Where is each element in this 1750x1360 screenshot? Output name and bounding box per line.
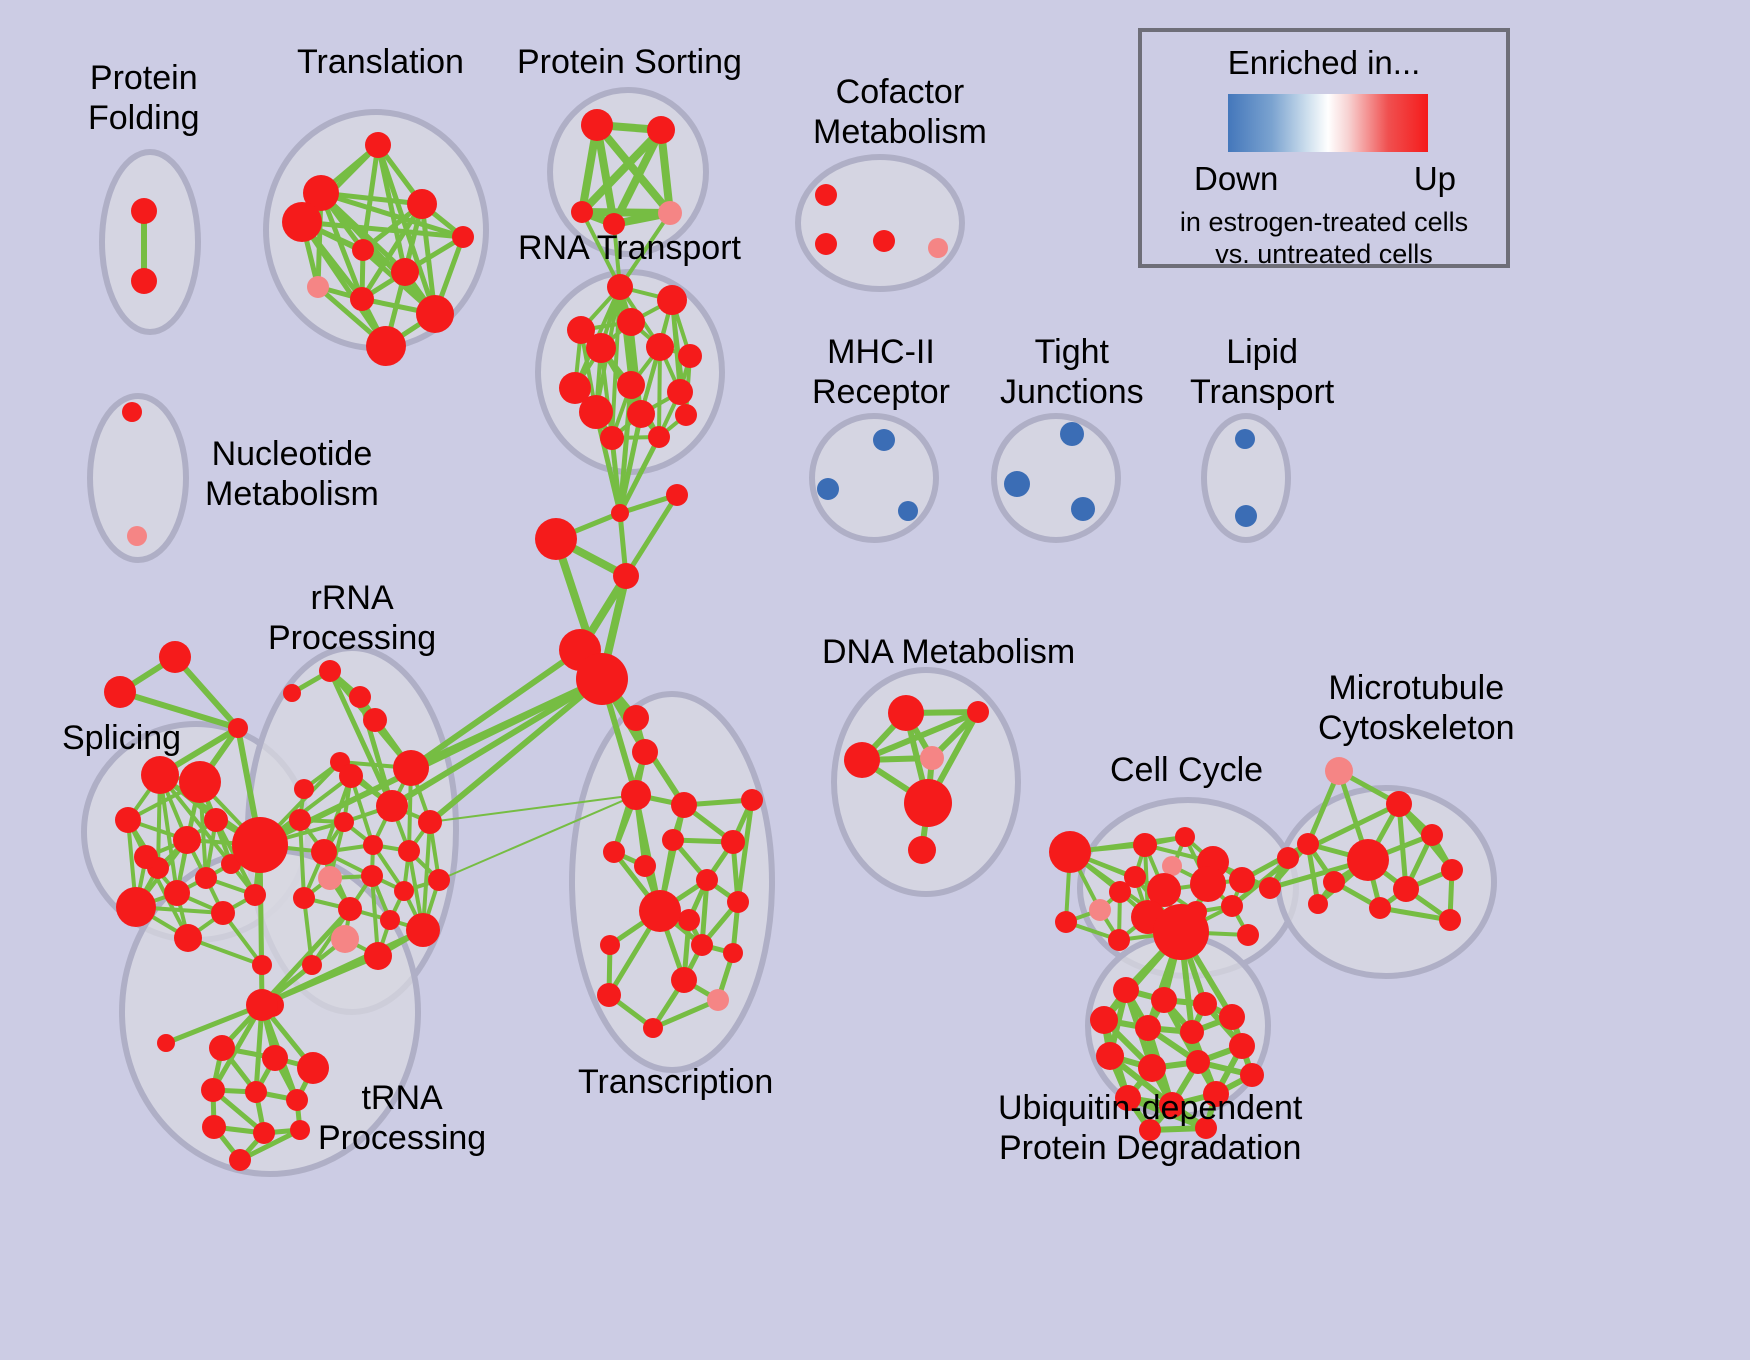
cluster-label-rrna-processing: rRNA Processing [268, 578, 436, 658]
gene-set-node[interactable] [349, 686, 371, 708]
gene-set-node[interactable] [1229, 1033, 1255, 1059]
gene-set-node[interactable] [289, 809, 311, 831]
gene-set-node[interactable] [721, 830, 745, 854]
gene-set-node[interactable] [678, 909, 700, 931]
gene-set-node[interactable] [623, 705, 649, 731]
gene-set-node[interactable] [647, 116, 675, 144]
gene-set-node[interactable] [179, 761, 221, 803]
gene-set-node[interactable] [600, 426, 624, 450]
gene-set-node[interactable] [667, 379, 693, 405]
cluster-label-nucleotide-metabolism: Nucleotide Metabolism [205, 434, 379, 514]
gene-set-node[interactable] [1133, 833, 1157, 857]
gene-set-node[interactable] [116, 887, 156, 927]
cluster-ellipse-protein-folding[interactable] [102, 152, 198, 332]
gene-set-node[interactable] [586, 333, 616, 363]
gene-set-node[interactable] [611, 504, 629, 522]
gene-set-node[interactable] [282, 202, 322, 242]
gene-set-node[interactable] [283, 684, 301, 702]
cluster-ellipse-microtubule-cytoskeleton[interactable] [1278, 788, 1494, 976]
gene-set-node[interactable] [1421, 824, 1443, 846]
gene-set-node[interactable] [1259, 877, 1281, 899]
gene-set-node[interactable] [1049, 831, 1091, 873]
gene-set-node[interactable] [122, 402, 142, 422]
cluster-label-tight-junctions: Tight Junctions [1000, 332, 1144, 412]
gene-set-node[interactable] [319, 660, 341, 682]
gene-set-node[interactable] [211, 901, 235, 925]
gene-set-node[interactable] [1240, 1063, 1264, 1087]
gene-set-node[interactable] [1071, 497, 1095, 521]
gene-set-node[interactable] [1193, 992, 1217, 1016]
gene-set-node[interactable] [1237, 924, 1259, 946]
gene-set-node[interactable] [632, 739, 658, 765]
gene-set-node[interactable] [1135, 1015, 1161, 1041]
gene-set-node[interactable] [318, 866, 342, 890]
gene-set-node[interactable] [294, 779, 314, 799]
gene-set-node[interactable] [363, 708, 387, 732]
gene-set-node[interactable] [1347, 839, 1389, 881]
gene-set-node[interactable] [131, 198, 157, 224]
gene-set-node[interactable] [597, 983, 621, 1007]
gene-set-node[interactable] [127, 526, 147, 546]
gene-set-node[interactable] [658, 201, 682, 225]
cluster-label-protein-folding: Protein Folding [88, 58, 200, 138]
gene-set-node[interactable] [202, 1115, 226, 1139]
gene-set-node[interactable] [639, 890, 681, 932]
legend-high-label: Up [1414, 160, 1456, 198]
gene-set-node[interactable] [134, 845, 158, 869]
gene-set-node[interactable] [691, 934, 713, 956]
gene-set-node[interactable] [418, 810, 442, 834]
gene-set-node[interactable] [376, 790, 408, 822]
gene-set-node[interactable] [1190, 866, 1226, 902]
gene-set-node[interactable] [204, 808, 228, 832]
cluster-ellipse-mhc-ii-receptor[interactable] [812, 416, 936, 540]
gene-set-node[interactable] [600, 935, 620, 955]
gene-set-node[interactable] [1151, 987, 1177, 1013]
gene-set-node[interactable] [643, 1018, 663, 1038]
gene-set-node[interactable] [607, 274, 633, 300]
gene-set-node[interactable] [253, 1122, 275, 1144]
gene-set-node[interactable] [1109, 881, 1131, 903]
cluster-label-trna-processing: tRNA Processing [318, 1078, 486, 1158]
gene-set-node[interactable] [666, 484, 688, 506]
gene-set-node[interactable] [331, 925, 359, 953]
gene-set-node[interactable] [621, 780, 651, 810]
gene-set-node[interactable] [209, 1035, 235, 1061]
gene-set-node[interactable] [246, 989, 278, 1021]
cluster-label-lipid-transport: Lipid Transport [1190, 332, 1334, 412]
gene-set-node[interactable] [363, 835, 383, 855]
gene-set-node[interactable] [873, 429, 895, 451]
gene-set-node[interactable] [131, 268, 157, 294]
legend-title: Enriched in... [1142, 44, 1506, 82]
gene-set-node[interactable] [391, 258, 419, 286]
gene-set-node[interactable] [364, 942, 392, 970]
gene-set-node[interactable] [646, 333, 674, 361]
gene-set-node[interactable] [1055, 911, 1077, 933]
gene-set-node[interactable] [286, 1089, 308, 1111]
gene-set-node[interactable] [727, 891, 749, 913]
gene-set-node[interactable] [228, 718, 248, 738]
gene-set-node[interactable] [888, 695, 924, 731]
gene-set-node[interactable] [1441, 859, 1463, 881]
gene-set-node[interactable] [1153, 904, 1209, 960]
gene-set-node[interactable] [245, 1081, 267, 1103]
legend-box: Enriched in... Down Up in estrogen-treat… [1138, 28, 1510, 268]
gene-set-node[interactable] [350, 287, 374, 311]
gene-set-node[interactable] [648, 426, 670, 448]
cluster-label-cell-cycle: Cell Cycle [1110, 750, 1263, 790]
gene-set-node[interactable] [617, 371, 645, 399]
gene-set-node[interactable] [904, 779, 952, 827]
gene-set-node[interactable] [293, 887, 315, 909]
gene-set-node[interactable] [361, 865, 383, 887]
gene-set-node[interactable] [452, 226, 474, 248]
gene-set-node[interactable] [1108, 929, 1130, 951]
legend-sublabel-line2: vs. untreated cells [1142, 238, 1506, 270]
gene-set-node[interactable] [696, 869, 718, 891]
gene-set-node[interactable] [898, 501, 918, 521]
gene-set-node[interactable] [416, 295, 454, 333]
gene-set-node[interactable] [707, 989, 729, 1011]
gene-set-node[interactable] [157, 1034, 175, 1052]
gene-set-node[interactable] [1186, 1050, 1210, 1074]
gene-set-node[interactable] [1235, 429, 1255, 449]
gene-set-node[interactable] [1096, 1042, 1124, 1070]
cluster-label-microtubule-cytoskeleton: Microtubule Cytoskeleton [1318, 668, 1515, 748]
gene-set-node[interactable] [928, 238, 948, 258]
gene-set-node[interactable] [380, 910, 400, 930]
gene-set-node[interactable] [675, 404, 697, 426]
gene-set-node[interactable] [428, 869, 450, 891]
gene-set-node[interactable] [671, 967, 697, 993]
gene-set-node[interactable] [1323, 871, 1345, 893]
gene-set-node[interactable] [1308, 894, 1328, 914]
gene-set-node[interactable] [671, 792, 697, 818]
gene-set-node[interactable] [581, 109, 613, 141]
cluster-label-dna-metabolism: DNA Metabolism [822, 632, 1075, 672]
gene-set-node[interactable] [173, 826, 201, 854]
gene-set-node[interactable] [1277, 847, 1299, 869]
gene-set-node[interactable] [159, 641, 191, 673]
gene-set-node[interactable] [873, 230, 895, 252]
gene-set-node[interactable] [603, 841, 625, 863]
gene-set-node[interactable] [1004, 471, 1030, 497]
gene-set-node[interactable] [571, 201, 593, 223]
gene-set-node[interactable] [164, 880, 190, 906]
gene-set-node[interactable] [1060, 422, 1084, 446]
cluster-label-translation: Translation [297, 42, 464, 82]
gene-set-node[interactable] [302, 955, 322, 975]
legend-sublabel: in estrogen-treated cells vs. untreated … [1142, 206, 1506, 270]
gene-set-node[interactable] [634, 855, 656, 877]
gene-set-node[interactable] [229, 1149, 251, 1171]
cluster-label-protein-sorting: Protein Sorting [517, 42, 742, 82]
gene-set-node[interactable] [815, 184, 837, 206]
gene-set-node[interactable] [1162, 856, 1182, 876]
gene-set-node[interactable] [174, 924, 202, 952]
legend-low-label: Down [1194, 160, 1278, 198]
gene-set-node[interactable] [338, 897, 362, 921]
gene-set-node[interactable] [1113, 977, 1139, 1003]
cluster-ellipse-cofactor-metabolism[interactable] [798, 157, 962, 289]
legend-sublabel-line1: in estrogen-treated cells [1142, 206, 1506, 238]
gene-set-node[interactable] [678, 344, 702, 368]
cluster-label-rna-transport: RNA Transport [518, 228, 741, 268]
gene-set-node[interactable] [1090, 1006, 1118, 1034]
cluster-label-mhc-ii-receptor: MHC-II Receptor [812, 332, 950, 412]
gene-set-node[interactable] [1138, 1054, 1166, 1082]
gene-set-node[interactable] [576, 653, 628, 705]
gene-set-node[interactable] [741, 789, 763, 811]
gene-set-node[interactable] [232, 817, 288, 873]
gene-set-node[interactable] [535, 518, 577, 560]
gene-set-node[interactable] [967, 701, 989, 723]
gene-set-node[interactable] [406, 913, 440, 947]
cluster-label-cofactor-metabolism: Cofactor Metabolism [813, 72, 987, 152]
gene-set-node[interactable] [366, 326, 406, 366]
gene-set-node[interactable] [104, 676, 136, 708]
gene-set-node[interactable] [262, 1045, 288, 1071]
gene-set-node[interactable] [115, 807, 141, 833]
gene-set-node[interactable] [1175, 827, 1195, 847]
gene-set-node[interactable] [815, 233, 837, 255]
gene-set-node[interactable] [252, 955, 272, 975]
gene-set-node[interactable] [141, 756, 179, 794]
gene-set-node[interactable] [201, 1078, 225, 1102]
gene-set-node[interactable] [1325, 757, 1353, 785]
gene-set-node[interactable] [195, 867, 217, 889]
gene-set-node[interactable] [334, 812, 354, 832]
gene-set-node[interactable] [844, 742, 880, 778]
gene-set-node[interactable] [1229, 867, 1255, 893]
gene-set-node[interactable] [1180, 1020, 1204, 1044]
gene-set-node[interactable] [908, 836, 936, 864]
gene-set-node[interactable] [290, 1120, 310, 1140]
cluster-label-transcription: Transcription [578, 1062, 773, 1102]
gene-set-node[interactable] [627, 400, 655, 428]
network-figure: Protein FoldingTranslationNucleotide Met… [0, 0, 1750, 1360]
gene-set-node[interactable] [723, 943, 743, 963]
gene-set-node[interactable] [352, 239, 374, 261]
gene-set-node[interactable] [307, 276, 329, 298]
gene-set-node[interactable] [394, 881, 414, 901]
gene-set-node[interactable] [407, 189, 437, 219]
gene-set-node[interactable] [617, 308, 645, 336]
gene-set-node[interactable] [1297, 833, 1319, 855]
gene-set-node[interactable] [1221, 895, 1243, 917]
gene-set-node[interactable] [1393, 876, 1419, 902]
gene-set-node[interactable] [613, 563, 639, 589]
cluster-label-ubiquitin-protein-degradation: Ubiquitin-dependent Protein Degradation [998, 1088, 1302, 1168]
gene-set-node[interactable] [1235, 505, 1257, 527]
gene-set-node[interactable] [339, 764, 363, 788]
gene-set-node[interactable] [398, 840, 420, 862]
gene-set-node[interactable] [1089, 899, 1111, 921]
gene-set-node[interactable] [244, 884, 266, 906]
gene-set-node[interactable] [817, 478, 839, 500]
gene-set-node[interactable] [1386, 791, 1412, 817]
cluster-label-splicing: Splicing [62, 718, 181, 758]
gene-set-node[interactable] [1369, 897, 1391, 919]
gene-set-node[interactable] [662, 829, 684, 851]
gene-set-node[interactable] [365, 132, 391, 158]
gene-set-node[interactable] [1219, 1004, 1245, 1030]
legend-colorbar [1228, 94, 1428, 152]
gene-set-node[interactable] [311, 839, 337, 865]
gene-set-node[interactable] [579, 395, 613, 429]
gene-set-node[interactable] [920, 746, 944, 770]
gene-set-node[interactable] [393, 750, 429, 786]
gene-set-node[interactable] [657, 285, 687, 315]
gene-set-node[interactable] [1439, 909, 1461, 931]
